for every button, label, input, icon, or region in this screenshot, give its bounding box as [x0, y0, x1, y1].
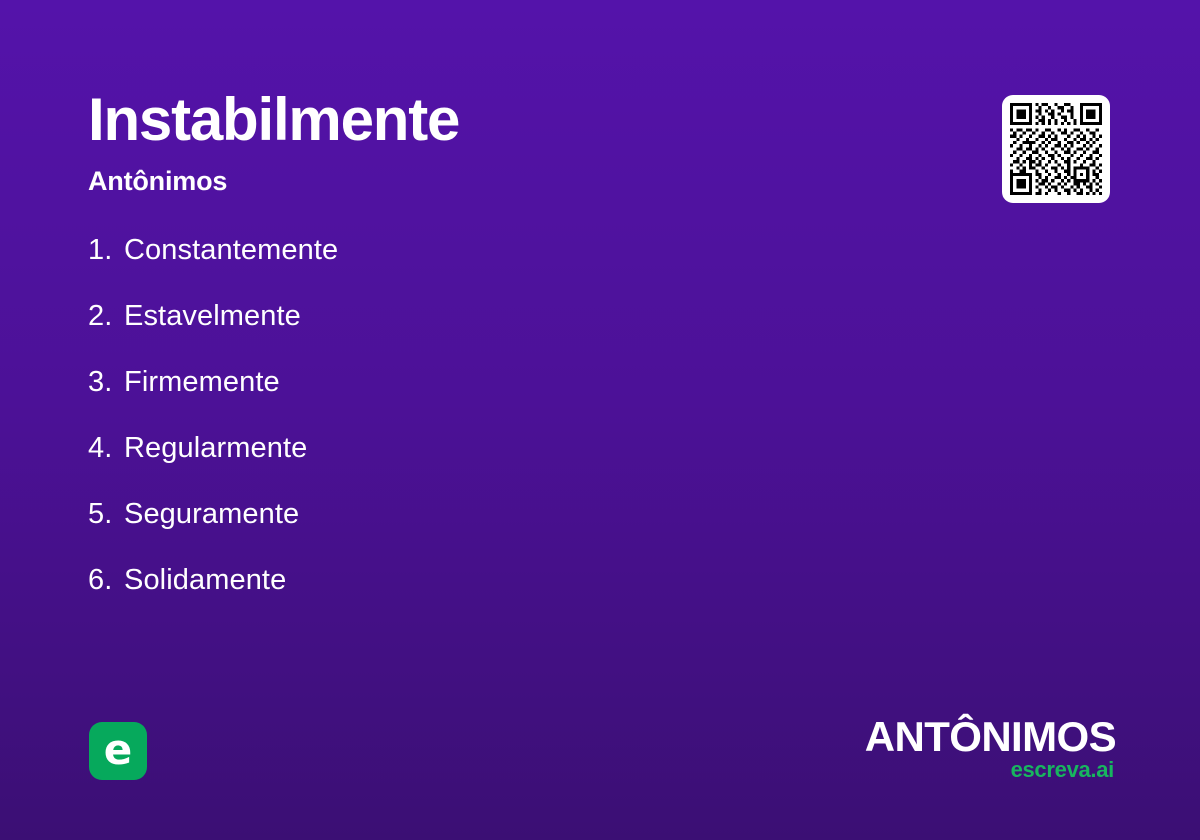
- page-title: Instabilmente: [88, 90, 459, 150]
- list-item-label: Seguramente: [124, 500, 299, 529]
- list-item-index: 1.: [88, 236, 124, 265]
- footer-brand-logo: ANTÔNIMOS escreva.ai: [865, 718, 1116, 781]
- list-item: 3.Firmemente: [88, 368, 808, 434]
- page-subtitle: Antônimos: [88, 168, 227, 195]
- list-item: 6.Solidamente: [88, 566, 808, 632]
- list-item-label: Constantemente: [124, 236, 338, 265]
- antonyms-card: Instabilmente Antônimos: [0, 0, 1200, 840]
- list-item-index: 4.: [88, 434, 124, 463]
- list-item: 2.Estavelmente: [88, 302, 808, 368]
- qr-code-icon: [1010, 103, 1102, 195]
- footer-logo-domain: escreva.ai: [865, 759, 1114, 781]
- antonyms-list: 1.Constantemente2.Estavelmente3.Firmemen…: [88, 236, 808, 632]
- escreva-logo-badge[interactable]: e: [89, 722, 147, 780]
- list-item-index: 2.: [88, 302, 124, 331]
- list-item-label: Regularmente: [124, 434, 307, 463]
- brand-badge-letter: e: [104, 729, 133, 771]
- list-item: 1.Constantemente: [88, 236, 808, 302]
- list-item-index: 5.: [88, 500, 124, 529]
- footer-logo-title: ANTÔNIMOS: [865, 718, 1116, 757]
- list-item-label: Solidamente: [124, 566, 286, 595]
- qr-code-card[interactable]: [1002, 95, 1110, 203]
- list-item-index: 6.: [88, 566, 124, 595]
- list-item-label: Estavelmente: [124, 302, 301, 331]
- list-item: 5.Seguramente: [88, 500, 808, 566]
- list-item: 4.Regularmente: [88, 434, 808, 500]
- list-item-index: 3.: [88, 368, 124, 397]
- list-item-label: Firmemente: [124, 368, 280, 397]
